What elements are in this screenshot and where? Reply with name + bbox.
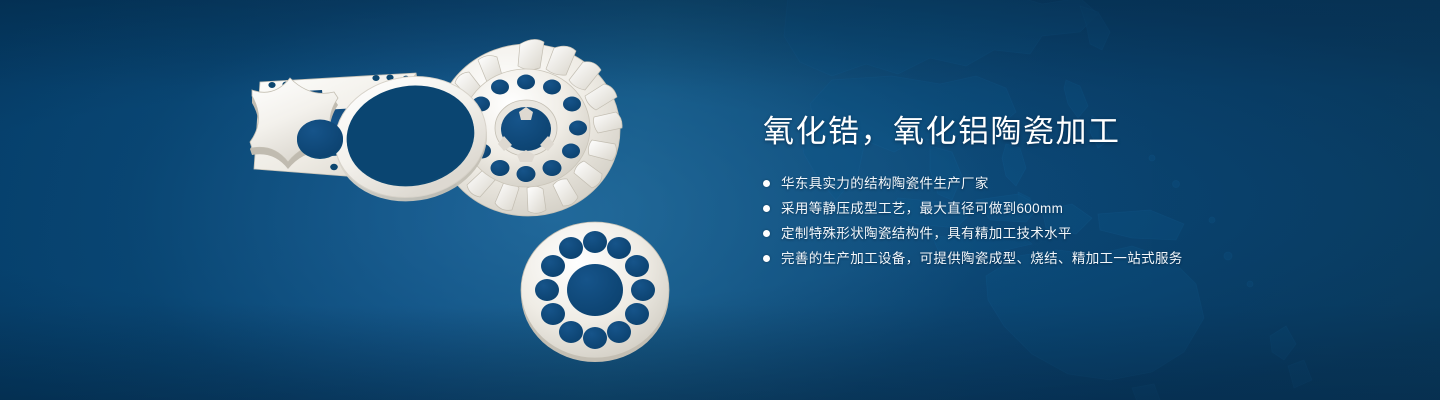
list-item: 华东具实力的结构陶瓷件生产厂家: [763, 174, 1383, 193]
list-item: 完善的生产加工设备，可提供陶瓷成型、烧结、精加工一站式服务: [763, 249, 1383, 268]
feature-text: 采用等静压成型工艺，最大直径可做到600mm: [781, 199, 1063, 218]
ceramic-parts-illustration: [230, 35, 710, 380]
list-item: 定制特殊形状陶瓷结构件，具有精加工技术水平: [763, 224, 1383, 243]
page-title: 氧化锆，氧化铝陶瓷加工: [763, 112, 1383, 152]
bullet-dot-icon: [763, 205, 770, 212]
bullet-dot-icon: [763, 255, 770, 262]
banner-copy: 氧化锆，氧化铝陶瓷加工 华东具实力的结构陶瓷件生产厂家 采用等静压成型工艺，最大…: [763, 112, 1383, 274]
promo-banner: 氧化锆，氧化铝陶瓷加工 华东具实力的结构陶瓷件生产厂家 采用等静压成型工艺，最大…: [0, 0, 1440, 400]
feature-text: 华东具实力的结构陶瓷件生产厂家: [781, 174, 989, 193]
bullet-dot-icon: [763, 230, 770, 237]
list-item: 采用等静压成型工艺，最大直径可做到600mm: [763, 199, 1383, 218]
ceramic-products-image: [230, 35, 710, 380]
feature-text: 定制特殊形状陶瓷结构件，具有精加工技术水平: [781, 224, 1072, 243]
feature-text: 完善的生产加工设备，可提供陶瓷成型、烧结、精加工一站式服务: [781, 249, 1183, 268]
ceramic-perforated-disc: [521, 222, 669, 362]
bullet-dot-icon: [763, 180, 770, 187]
feature-list: 华东具实力的结构陶瓷件生产厂家 采用等静压成型工艺，最大直径可做到600mm 定…: [763, 174, 1383, 268]
